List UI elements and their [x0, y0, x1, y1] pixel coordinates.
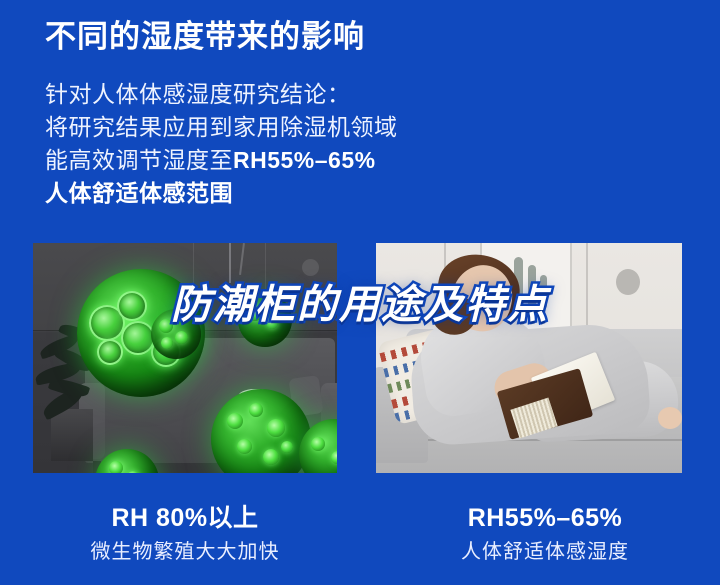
- microbe-spot-e: [161, 337, 173, 349]
- caption-left-headline: RH 80%以上: [30, 503, 340, 534]
- microbe-spot-l: [311, 437, 325, 451]
- intro-line-4: 人体舒适体感范围: [45, 177, 525, 210]
- caption-right-headline: RH55%–65%: [390, 503, 700, 534]
- page-title: 不同的湿度带来的影响: [45, 18, 365, 57]
- overlay-banner-text: 防潮柜的用途及特点: [0, 272, 720, 330]
- microbe-spot-f: [227, 413, 243, 429]
- caption-left: RH 80%以上 微生物繁殖大大加快: [30, 503, 340, 565]
- microbe-spot-m: [331, 451, 337, 464]
- intro-line-1: 针对人体体感湿度研究结论：: [45, 78, 525, 111]
- intro-line-3-highlight: RH55%–65%: [233, 147, 376, 173]
- microbe-spot-i: [237, 439, 252, 454]
- person-foot: [658, 407, 682, 429]
- intro-line-2: 将研究结果应用到家用除湿机领域: [45, 111, 525, 144]
- microbe-spot-j: [263, 449, 279, 465]
- microbe-nucleus-5: [97, 339, 123, 365]
- caption-left-sub: 微生物繁殖大大加快: [30, 539, 340, 565]
- intro-line-3-plain: 能高效调节湿度至: [45, 147, 233, 173]
- microbe-spot-g: [249, 403, 263, 417]
- microbe-spot-h: [267, 419, 285, 437]
- poster-root: 不同的湿度带来的影响 针对人体体感湿度研究结论： 将研究结果应用到家用除湿机领域…: [0, 0, 720, 585]
- microbe-spot-o: [127, 471, 139, 473]
- caption-right: RH55%–65% 人体舒适体感湿度: [390, 503, 700, 565]
- microbe-spot-k: [281, 441, 293, 453]
- microbe-spot-n: [109, 461, 123, 473]
- intro-block: 针对人体体感湿度研究结论： 将研究结果应用到家用除湿机领域 能高效调节湿度至RH…: [45, 78, 525, 210]
- intro-line-3: 能高效调节湿度至RH55%–65%: [45, 144, 525, 177]
- plant-pot: [51, 409, 93, 461]
- microbe-spot-d: [175, 331, 188, 344]
- caption-right-sub: 人体舒适体感湿度: [390, 539, 700, 565]
